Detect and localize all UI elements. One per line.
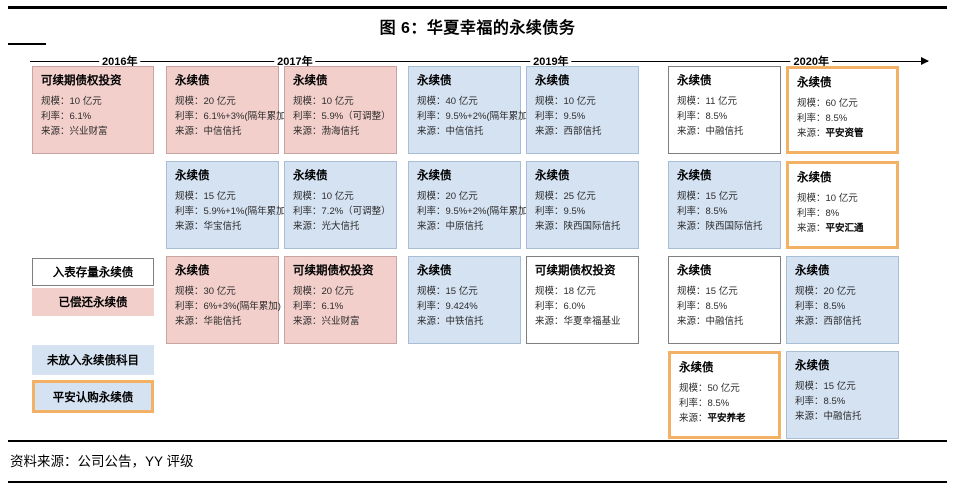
bond-card[interactable]: 永续债规模：20 亿元利率：9.5%+2%(隔年累加)来源：中原信托	[408, 161, 521, 249]
bond-card[interactable]: 永续债规模：15 亿元利率：8.5%来源：陕西国际信托	[668, 161, 781, 249]
bond-card-rate: 利率：5.9%+1%(隔年累加)	[175, 204, 270, 219]
footer-divider-top	[8, 440, 947, 442]
bond-card-source: 来源：中融信托	[677, 124, 772, 139]
bond-card-scale: 规模：11 亿元	[677, 94, 772, 109]
bond-card-scale-value: 10 亿元	[322, 96, 354, 107]
bond-card-scale-label: 规模：	[417, 191, 446, 202]
bond-card-scale: 规模：10 亿元	[293, 94, 388, 109]
bond-card-rate: 利率：8.5%	[677, 109, 772, 124]
bond-card-scale-value: 20 亿元	[446, 191, 478, 202]
bond-card-source: 来源：兴业财富	[41, 124, 145, 139]
bond-card-scale: 规模：10 亿元	[293, 189, 388, 204]
bond-card-scale-value: 15 亿元	[706, 191, 738, 202]
bond-card-scale-label: 规模：	[535, 286, 564, 297]
legend-on-balance[interactable]: 入表存量永续债	[32, 258, 154, 286]
bond-card-source: 来源：陕西国际信托	[677, 219, 772, 234]
bond-card-rate-value: 7.2%（可调整）	[322, 206, 391, 217]
bond-card-source-value: 中融信托	[706, 316, 744, 327]
bond-card-rate: 利率：9.5%+2%(隔年累加)	[417, 109, 512, 124]
legend-repaid[interactable]: 已偿还永续债	[32, 288, 154, 316]
bond-card-rate-label: 利率：	[293, 301, 322, 312]
bond-card-title: 永续债	[679, 361, 770, 375]
bond-card-source: 来源：光大信托	[293, 219, 388, 234]
bond-card-rate-value: 5.9%+1%(隔年累加)	[204, 206, 289, 217]
bond-card-rate-value: 8%	[826, 208, 840, 219]
bond-card-source: 来源：兴业财富	[293, 314, 388, 329]
bond-card-scale-value: 15 亿元	[706, 286, 738, 297]
bond-card-source-label: 来源：	[679, 413, 708, 424]
bond-card-source: 来源：平安资管	[797, 126, 888, 141]
bond-card-rate-value: 8.5%	[706, 206, 728, 217]
bond-card-source: 来源：中信信托	[175, 124, 270, 139]
bond-card[interactable]: 永续债规模：15 亿元利率：9.424%来源：中铁信托	[408, 256, 521, 344]
bond-card-scale-value: 30 亿元	[204, 286, 236, 297]
bond-card-rate: 利率：8.5%	[677, 204, 772, 219]
bond-card-rate: 利率：6.1%+3%(隔年累加)	[175, 109, 270, 124]
bond-card-rate-value: 8.5%	[708, 398, 730, 409]
bond-card-source-value: 兴业财富	[70, 126, 108, 137]
bond-card-rate-label: 利率：	[795, 396, 824, 407]
bond-card-source-label: 来源：	[41, 126, 70, 137]
bond-card-source-value: 华能信托	[204, 316, 242, 327]
bond-card-source: 来源：中信信托	[417, 124, 512, 139]
bond-card-scale-label: 规模：	[795, 286, 824, 297]
bond-card-source-value: 平安资管	[826, 128, 864, 139]
bond-card-scale-value: 10 亿元	[564, 96, 596, 107]
bond-card-scale-value: 40 亿元	[446, 96, 478, 107]
bond-card-source-label: 来源：	[795, 411, 824, 422]
bond-card-rate: 利率：8.5%	[797, 111, 888, 126]
bond-card-source-value: 光大信托	[322, 221, 360, 232]
bond-card-source: 来源：华能信托	[175, 314, 270, 329]
bond-card[interactable]: 可续期债权投资规模：10 亿元利率：6.1%来源：兴业财富	[32, 66, 154, 154]
bond-card[interactable]: 永续债规模：10 亿元利率：7.2%（可调整）来源：光大信托	[284, 161, 397, 249]
bond-card-scale: 规模：10 亿元	[535, 94, 630, 109]
bond-card-source-label: 来源：	[797, 128, 826, 139]
bond-card-scale-value: 10 亿元	[826, 193, 858, 204]
bond-card-source-value: 华夏幸福基业	[564, 316, 621, 327]
bond-card-scale-label: 规模：	[535, 191, 564, 202]
bond-card-title: 永续债	[795, 264, 890, 278]
axis-left-cap	[8, 43, 46, 45]
bond-card-source-label: 来源：	[797, 223, 826, 234]
bond-card-title: 永续债	[175, 169, 270, 183]
figure-title: 图 6：华夏幸福的永续债务	[0, 14, 955, 38]
bond-card-rate-label: 利率：	[293, 206, 322, 217]
bond-card-source-value: 华宝信托	[204, 221, 242, 232]
bond-card-scale: 规模：15 亿元	[677, 189, 772, 204]
bond-card-rate-label: 利率：	[797, 113, 826, 124]
bond-card-rate-value: 6.0%	[564, 301, 586, 312]
bond-card-source-label: 来源：	[417, 126, 446, 137]
bond-card-rate-label: 利率：	[41, 111, 70, 122]
bond-card-source: 来源：渤海信托	[293, 124, 388, 139]
bond-card-source-label: 来源：	[293, 221, 322, 232]
bond-card-source-label: 来源：	[795, 316, 824, 327]
bond-card-title: 永续债	[293, 169, 388, 183]
bond-card-scale: 规模：15 亿元	[795, 379, 890, 394]
bond-card-scale-label: 规模：	[677, 191, 706, 202]
bond-card[interactable]: 永续债规模：40 亿元利率：9.5%+2%(隔年累加)来源：中信信托	[408, 66, 521, 154]
bond-card-scale-label: 规模：	[417, 286, 446, 297]
bond-card-rate-label: 利率：	[677, 206, 706, 217]
bond-card-rate-value: 9.424%	[446, 301, 478, 312]
legend-not-listed[interactable]: 未放入永续债科目	[32, 345, 154, 375]
bond-card[interactable]: 永续债规模：15 亿元利率：5.9%+1%(隔年累加)来源：华宝信托	[166, 161, 279, 249]
bond-card-rate-label: 利率：	[679, 398, 708, 409]
bond-card-scale-label: 规模：	[797, 193, 826, 204]
bond-card-rate-value: 8.5%	[706, 301, 728, 312]
bond-card-rate-value: 8.5%	[824, 301, 846, 312]
bond-card-scale: 规模：10 亿元	[41, 94, 145, 109]
bond-card-source-value: 西部信托	[564, 126, 602, 137]
bond-card-scale-label: 规模：	[175, 286, 204, 297]
bond-card-title: 永续债	[535, 74, 630, 88]
bond-card-source-value: 中融信托	[706, 126, 744, 137]
bond-card-source-value: 西部信托	[824, 316, 862, 327]
bond-card-rate: 利率：8.5%	[677, 299, 772, 314]
bond-card-source: 来源：华宝信托	[175, 219, 270, 234]
bond-card[interactable]: 可续期债权投资规模：20 亿元利率：6.1%来源：兴业财富	[284, 256, 397, 344]
bond-card-rate-value: 6.1%	[70, 111, 92, 122]
bond-card[interactable]: 永续债规模：25 亿元利率：9.5%来源：陕西国际信托	[526, 161, 639, 249]
bond-card-rate-label: 利率：	[175, 111, 204, 122]
bond-card-source-label: 来源：	[417, 221, 446, 232]
bond-card-source-value: 陕西国际信托	[706, 221, 763, 232]
bond-card-title: 永续债	[795, 359, 890, 373]
bond-card-scale: 规模：15 亿元	[677, 284, 772, 299]
bond-card-rate-label: 利率：	[417, 111, 446, 122]
bond-card[interactable]: 永续债规模：10 亿元利率：5.9%（可调整）来源：渤海信托	[284, 66, 397, 154]
bond-card-source-value: 中铁信托	[446, 316, 484, 327]
bond-card-title: 可续期债权投资	[535, 264, 630, 278]
bond-card-rate: 利率：6%+3%(隔年累加)	[175, 299, 270, 314]
bond-card-source-label: 来源：	[535, 316, 564, 327]
bond-card-rate-label: 利率：	[175, 206, 204, 217]
source-note: 资料来源：公司公告，YY 评级	[10, 450, 194, 470]
top-divider	[8, 6, 947, 9]
timeline-arrow-icon	[921, 57, 929, 65]
bond-card-rate-value: 8.5%	[826, 113, 848, 124]
bond-card-scale-label: 规模：	[535, 96, 564, 107]
bond-card[interactable]: 永续债规模：11 亿元利率：8.5%来源：中融信托	[668, 66, 781, 154]
bond-card-source: 来源：中铁信托	[417, 314, 512, 329]
bond-card[interactable]: 可续期债权投资规模：18 亿元利率：6.0%来源：华夏幸福基业	[526, 256, 639, 344]
bond-card-source: 来源：中融信托	[677, 314, 772, 329]
legend-pingan-label: 平安认购永续债	[53, 389, 134, 405]
bond-card-title: 永续债	[677, 264, 772, 278]
bond-card-source-value: 陕西国际信托	[564, 221, 621, 232]
bond-card-rate-value: 6%+3%(隔年累加)	[204, 301, 281, 312]
bond-card-rate-label: 利率：	[535, 111, 564, 122]
legend-not-listed-label: 未放入永续债科目	[47, 352, 139, 368]
bond-card-rate-label: 利率：	[677, 111, 706, 122]
bond-card-title: 永续债	[175, 74, 270, 88]
bond-card-rate: 利率：6.1%	[41, 109, 145, 124]
bond-card-rate-label: 利率：	[535, 206, 564, 217]
bond-card-source-value: 平安养老	[708, 413, 746, 424]
bond-card-rate-label: 利率：	[417, 206, 446, 217]
bond-card-title: 永续债	[535, 169, 630, 183]
bond-card-title: 永续债	[677, 169, 772, 183]
bond-card-scale-label: 规模：	[679, 383, 708, 394]
bond-card-scale-value: 15 亿元	[824, 381, 856, 392]
bond-card-source-label: 来源：	[175, 126, 204, 137]
bond-card-source-value: 兴业财富	[322, 316, 360, 327]
bond-card[interactable]: 永续债规模：20 亿元利率：8.5%来源：西部信托	[786, 256, 899, 344]
bond-card[interactable]: 永续债规模：15 亿元利率：8.5%来源：中融信托	[786, 351, 899, 439]
bond-card-rate-value: 5.9%（可调整）	[322, 111, 391, 122]
bond-card-source: 来源：西部信托	[795, 314, 890, 329]
bond-card-scale: 规模：10 亿元	[797, 191, 888, 206]
bond-card-rate-value: 9.5%+2%(隔年累加)	[446, 206, 531, 217]
bond-card-scale-value: 11 亿元	[706, 96, 738, 107]
bond-card-rate-value: 9.5%+2%(隔年累加)	[446, 111, 531, 122]
bond-card[interactable]: 永续债规模：10 亿元利率：8%来源：平安汇通	[786, 161, 899, 249]
bond-card-rate: 利率：9.5%	[535, 204, 630, 219]
bond-card-rate-label: 利率：	[535, 301, 564, 312]
bond-card-rate-value: 8.5%	[706, 111, 728, 122]
bond-card-title: 可续期债权投资	[293, 264, 388, 278]
bond-card-rate-value: 6.1%	[322, 301, 344, 312]
bond-card-scale-value: 18 亿元	[564, 286, 596, 297]
bond-card-scale-value: 60 亿元	[826, 98, 858, 109]
bond-card-rate: 利率：8.5%	[795, 394, 890, 409]
bond-card-scale-label: 规模：	[175, 191, 204, 202]
bond-card-rate-value: 9.5%	[564, 206, 586, 217]
bond-card-rate: 利率：9.5%+2%(隔年累加)	[417, 204, 512, 219]
bond-card-scale-value: 25 亿元	[564, 191, 596, 202]
bond-card-scale-label: 规模：	[677, 286, 706, 297]
bond-card-scale-value: 10 亿元	[70, 96, 102, 107]
bond-card-title: 永续债	[417, 74, 512, 88]
bond-card-rate: 利率：7.2%（可调整）	[293, 204, 388, 219]
bond-card-title: 永续债	[417, 264, 512, 278]
footer-divider-bottom	[8, 481, 947, 483]
bond-card-rate: 利率：8.5%	[795, 299, 890, 314]
bond-card-source-value: 平安汇通	[826, 223, 864, 234]
bond-card-source-label: 来源：	[293, 126, 322, 137]
bond-card[interactable]: 永续债规模：30 亿元利率：6%+3%(隔年累加)来源：华能信托	[166, 256, 279, 344]
bond-card-scale-value: 10 亿元	[322, 191, 354, 202]
bond-card-scale-label: 规模：	[293, 191, 322, 202]
bond-card-scale: 规模：20 亿元	[293, 284, 388, 299]
bond-card-source-label: 来源：	[535, 126, 564, 137]
bond-card[interactable]: 永续债规模：20 亿元利率：6.1%+3%(隔年累加)来源：中信信托	[166, 66, 279, 154]
bond-card[interactable]: 永续债规模：60 亿元利率：8.5%来源：平安资管	[786, 66, 899, 154]
bond-card-scale-label: 规模：	[41, 96, 70, 107]
bond-card[interactable]: 永续债规模：10 亿元利率：9.5%来源：西部信托	[526, 66, 639, 154]
bond-card-rate-value: 6.1%+3%(隔年累加)	[204, 111, 289, 122]
bond-card-rate-label: 利率：	[175, 301, 204, 312]
bond-card-scale-label: 规模：	[293, 96, 322, 107]
bond-card-source: 来源：平安汇通	[797, 221, 888, 236]
bond-card-rate-value: 9.5%	[564, 111, 586, 122]
bond-card-source-label: 来源：	[175, 221, 204, 232]
bond-card-rate: 利率：9.5%	[535, 109, 630, 124]
bond-card-rate-label: 利率：	[293, 111, 322, 122]
bond-card-scale: 规模：18 亿元	[535, 284, 630, 299]
bond-card-source-value: 中原信托	[446, 221, 484, 232]
bond-card-scale: 规模：30 亿元	[175, 284, 270, 299]
bond-card-rate-label: 利率：	[417, 301, 446, 312]
bond-card-rate: 利率：9.424%	[417, 299, 512, 314]
bond-card[interactable]: 永续债规模：50 亿元利率：8.5%来源：平安养老	[668, 351, 781, 439]
bond-card-scale-label: 规模：	[677, 96, 706, 107]
bond-card-source-label: 来源：	[677, 316, 706, 327]
bond-card-title: 永续债	[797, 171, 888, 185]
bond-card-scale: 规模：50 亿元	[679, 381, 770, 396]
bond-card-rate-label: 利率：	[677, 301, 706, 312]
bond-card-scale-value: 20 亿元	[824, 286, 856, 297]
bond-card-scale-label: 规模：	[417, 96, 446, 107]
bond-card-scale-value: 15 亿元	[204, 191, 236, 202]
bond-card-source-value: 中融信托	[824, 411, 862, 422]
bond-card-rate: 利率：8%	[797, 206, 888, 221]
bond-card-rate: 利率：6.1%	[293, 299, 388, 314]
bond-card-source: 来源：陕西国际信托	[535, 219, 630, 234]
bond-card-source-label: 来源：	[677, 126, 706, 137]
bond-card-scale: 规模：15 亿元	[175, 189, 270, 204]
bond-card-scale-label: 规模：	[175, 96, 204, 107]
bond-card-source-value: 中信信托	[446, 126, 484, 137]
bond-card-title: 可续期债权投资	[41, 74, 145, 88]
bond-card-scale: 规模：40 亿元	[417, 94, 512, 109]
bond-card-scale-value: 20 亿元	[204, 96, 236, 107]
bond-card-scale-label: 规模：	[797, 98, 826, 109]
bond-card[interactable]: 永续债规模：15 亿元利率：8.5%来源：中融信托	[668, 256, 781, 344]
bond-card-title: 永续债	[677, 74, 772, 88]
bond-card-scale-value: 50 亿元	[708, 383, 740, 394]
bond-card-source-label: 来源：	[677, 221, 706, 232]
bond-card-source: 来源：中原信托	[417, 219, 512, 234]
bond-card-scale-value: 20 亿元	[322, 286, 354, 297]
bond-card-title: 永续债	[175, 264, 270, 278]
bond-card-source: 来源：华夏幸福基业	[535, 314, 630, 329]
bond-card-source: 来源：平安养老	[679, 411, 770, 426]
bond-card-scale: 规模：60 亿元	[797, 96, 888, 111]
bond-card-source-label: 来源：	[417, 316, 446, 327]
bond-card-rate-label: 利率：	[797, 208, 826, 219]
bond-card-scale: 规模：20 亿元	[417, 189, 512, 204]
bond-card-rate-value: 8.5%	[824, 396, 846, 407]
bond-card-rate: 利率：6.0%	[535, 299, 630, 314]
bond-card-scale-value: 15 亿元	[446, 286, 478, 297]
bond-card-source: 来源：西部信托	[535, 124, 630, 139]
bond-card-source-value: 中信信托	[204, 126, 242, 137]
bond-card-title: 永续债	[417, 169, 512, 183]
legend-pingan[interactable]: 平安认购永续债	[32, 380, 154, 413]
bond-card-scale: 规模：15 亿元	[417, 284, 512, 299]
bond-card-source-label: 来源：	[175, 316, 204, 327]
legend-on-balance-label: 入表存量永续债	[53, 264, 134, 280]
bond-card-source-value: 渤海信托	[322, 126, 360, 137]
bond-card-scale: 规模：25 亿元	[535, 189, 630, 204]
bond-card-rate: 利率：8.5%	[679, 396, 770, 411]
bond-card-source-label: 来源：	[293, 316, 322, 327]
bond-card-title: 永续债	[293, 74, 388, 88]
bond-card-scale-label: 规模：	[795, 381, 824, 392]
bond-card-rate: 利率：5.9%（可调整）	[293, 109, 388, 124]
legend-repaid-label: 已偿还永续债	[59, 294, 128, 310]
bond-card-rate-label: 利率：	[795, 301, 824, 312]
bond-card-scale: 规模：20 亿元	[175, 94, 270, 109]
bond-card-source-label: 来源：	[535, 221, 564, 232]
bond-card-scale: 规模：20 亿元	[795, 284, 890, 299]
bond-card-title: 永续债	[797, 76, 888, 90]
bond-card-scale-label: 规模：	[293, 286, 322, 297]
bond-card-source: 来源：中融信托	[795, 409, 890, 424]
